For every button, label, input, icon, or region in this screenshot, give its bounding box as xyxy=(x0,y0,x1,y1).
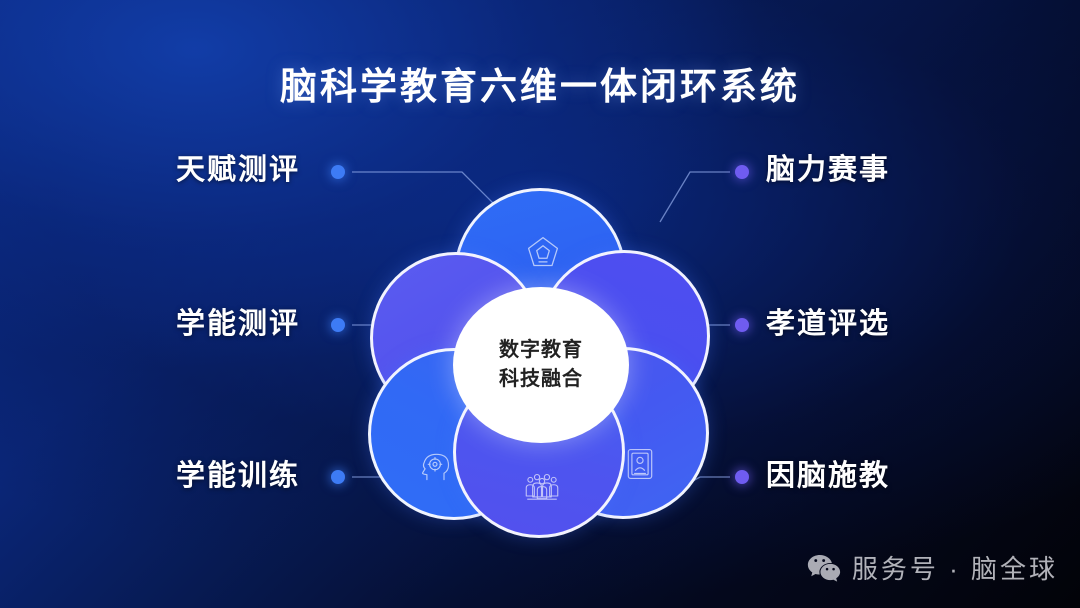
connector-dot-right-1 xyxy=(735,165,749,179)
pentagon-shield-icon xyxy=(525,234,561,270)
watermark-text: 服务号 · 脑全球 xyxy=(852,549,1058,586)
slide-canvas: 脑科学教育六维一体闭环系统 天赋测评 学能测评 学能训练 脑力赛事 孝道评选 因… xyxy=(0,0,1080,608)
center-hub-line-1: 数字教育 xyxy=(499,336,583,365)
node-label-filial-piety-selection[interactable]: 孝道评选 xyxy=(766,300,890,342)
node-label-brain-based-teaching[interactable]: 因脑施教 xyxy=(766,452,890,494)
center-hub[interactable]: 数字教育 科技融合 xyxy=(453,287,629,443)
page-title: 脑科学教育六维一体闭环系统 xyxy=(0,56,1080,110)
certificate-book-icon xyxy=(622,446,658,482)
connector-dot-left-1 xyxy=(331,165,345,179)
wechat-icon xyxy=(807,554,841,582)
connector-dot-right-2 xyxy=(735,318,749,332)
center-hub-line-2: 科技融合 xyxy=(499,365,583,394)
node-label-talent-assessment[interactable]: 天赋测评 xyxy=(176,146,300,188)
node-label-learning-training[interactable]: 学能训练 xyxy=(176,452,300,494)
crowd-people-icon xyxy=(524,469,560,505)
node-label-learning-assessment[interactable]: 学能测评 xyxy=(176,300,300,342)
watermark: 服务号 · 脑全球 xyxy=(807,549,1058,586)
six-petal-diagram: 数字教育 科技融合 xyxy=(365,188,715,540)
connector-dot-left-3 xyxy=(331,470,345,484)
node-label-brainpower-competition[interactable]: 脑力赛事 xyxy=(766,146,890,188)
connector-dot-left-2 xyxy=(331,318,345,332)
connector-dot-right-3 xyxy=(735,470,749,484)
head-gear-icon xyxy=(417,449,453,485)
